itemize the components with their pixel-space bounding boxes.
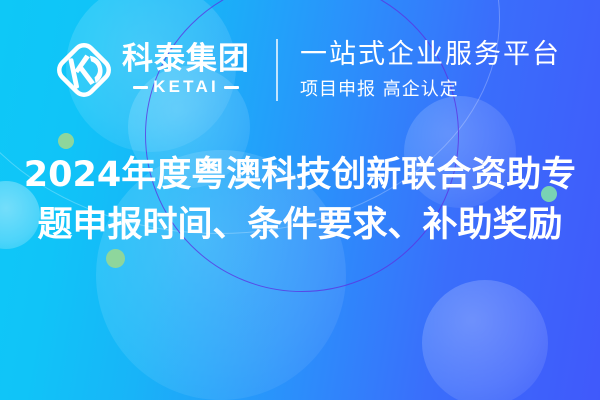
brand-name-en: KETAI [153, 77, 219, 97]
banner-header: 科泰集团 KETAI 一站式企业服务平台 项目申报 高企认定 [0, 0, 600, 140]
brand-lockup: 科泰集团 KETAI [52, 38, 250, 102]
brand-rule-right [224, 86, 239, 89]
brand-name-en-row: KETAI [133, 77, 239, 97]
headline-block: 2024年度粤澳科技创新联合资助专 题申报时间、条件要求、补助奖励 [0, 150, 600, 250]
brand-name-cn: 科泰集团 [122, 43, 250, 75]
header-divider [276, 39, 278, 101]
headline-line-1: 2024年度粤澳科技创新联合资助专 [0, 150, 600, 200]
headline-line-2: 题申报时间、条件要求、补助奖励 [0, 200, 600, 250]
decorative-dot-green-lower [106, 249, 125, 268]
tagline-block: 一站式企业服务平台 项目申报 高企认定 [300, 39, 561, 101]
brand-wordmark: 科泰集团 KETAI [122, 43, 250, 97]
promo-banner: 科泰集团 KETAI 一站式企业服务平台 项目申报 高企认定 2024年度粤澳科… [0, 0, 600, 400]
tagline-main: 一站式企业服务平台 [300, 39, 561, 71]
brand-rule-left [133, 86, 148, 89]
ketai-diamond-kd-logo-icon [52, 38, 116, 102]
decorative-circle-right-lower [422, 280, 548, 400]
tagline-sub: 项目申报 高企认定 [300, 75, 561, 101]
